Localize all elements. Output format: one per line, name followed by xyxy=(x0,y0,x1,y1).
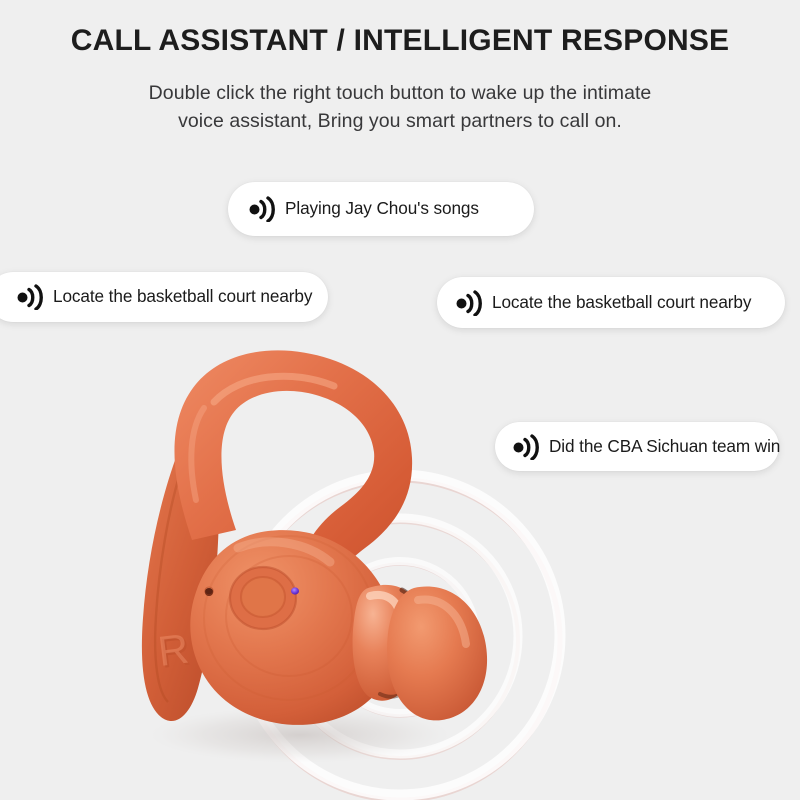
voice-bubble-cba[interactable]: Did the CBA Sichuan team win xyxy=(495,422,779,471)
led-indicator xyxy=(291,587,299,594)
product-illustration: R R xyxy=(0,0,800,800)
touch-button[interactable] xyxy=(230,567,296,629)
voice-bubble-text: Locate the basketball court nearby xyxy=(492,294,751,311)
voice-bubble-text: Did the CBA Sichuan team win xyxy=(549,438,780,455)
voice-wave-icon xyxy=(512,434,542,460)
voice-bubble-text: Playing Jay Chou's songs xyxy=(285,200,479,217)
voice-wave-icon xyxy=(248,196,278,222)
voice-wave-icon xyxy=(455,290,485,316)
voice-bubble-text: Locate the basketball court nearby xyxy=(53,288,312,305)
svg-text:R: R xyxy=(155,625,191,675)
voice-bubble-playing[interactable]: Playing Jay Chou's songs xyxy=(228,182,534,236)
voice-bubble-locate-right[interactable]: Locate the basketball court nearby xyxy=(437,277,785,328)
product-marketing-banner: R R xyxy=(0,0,800,800)
voice-bubble-locate-left[interactable]: Locate the basketball court nearby xyxy=(0,272,328,322)
voice-wave-icon xyxy=(16,284,46,310)
